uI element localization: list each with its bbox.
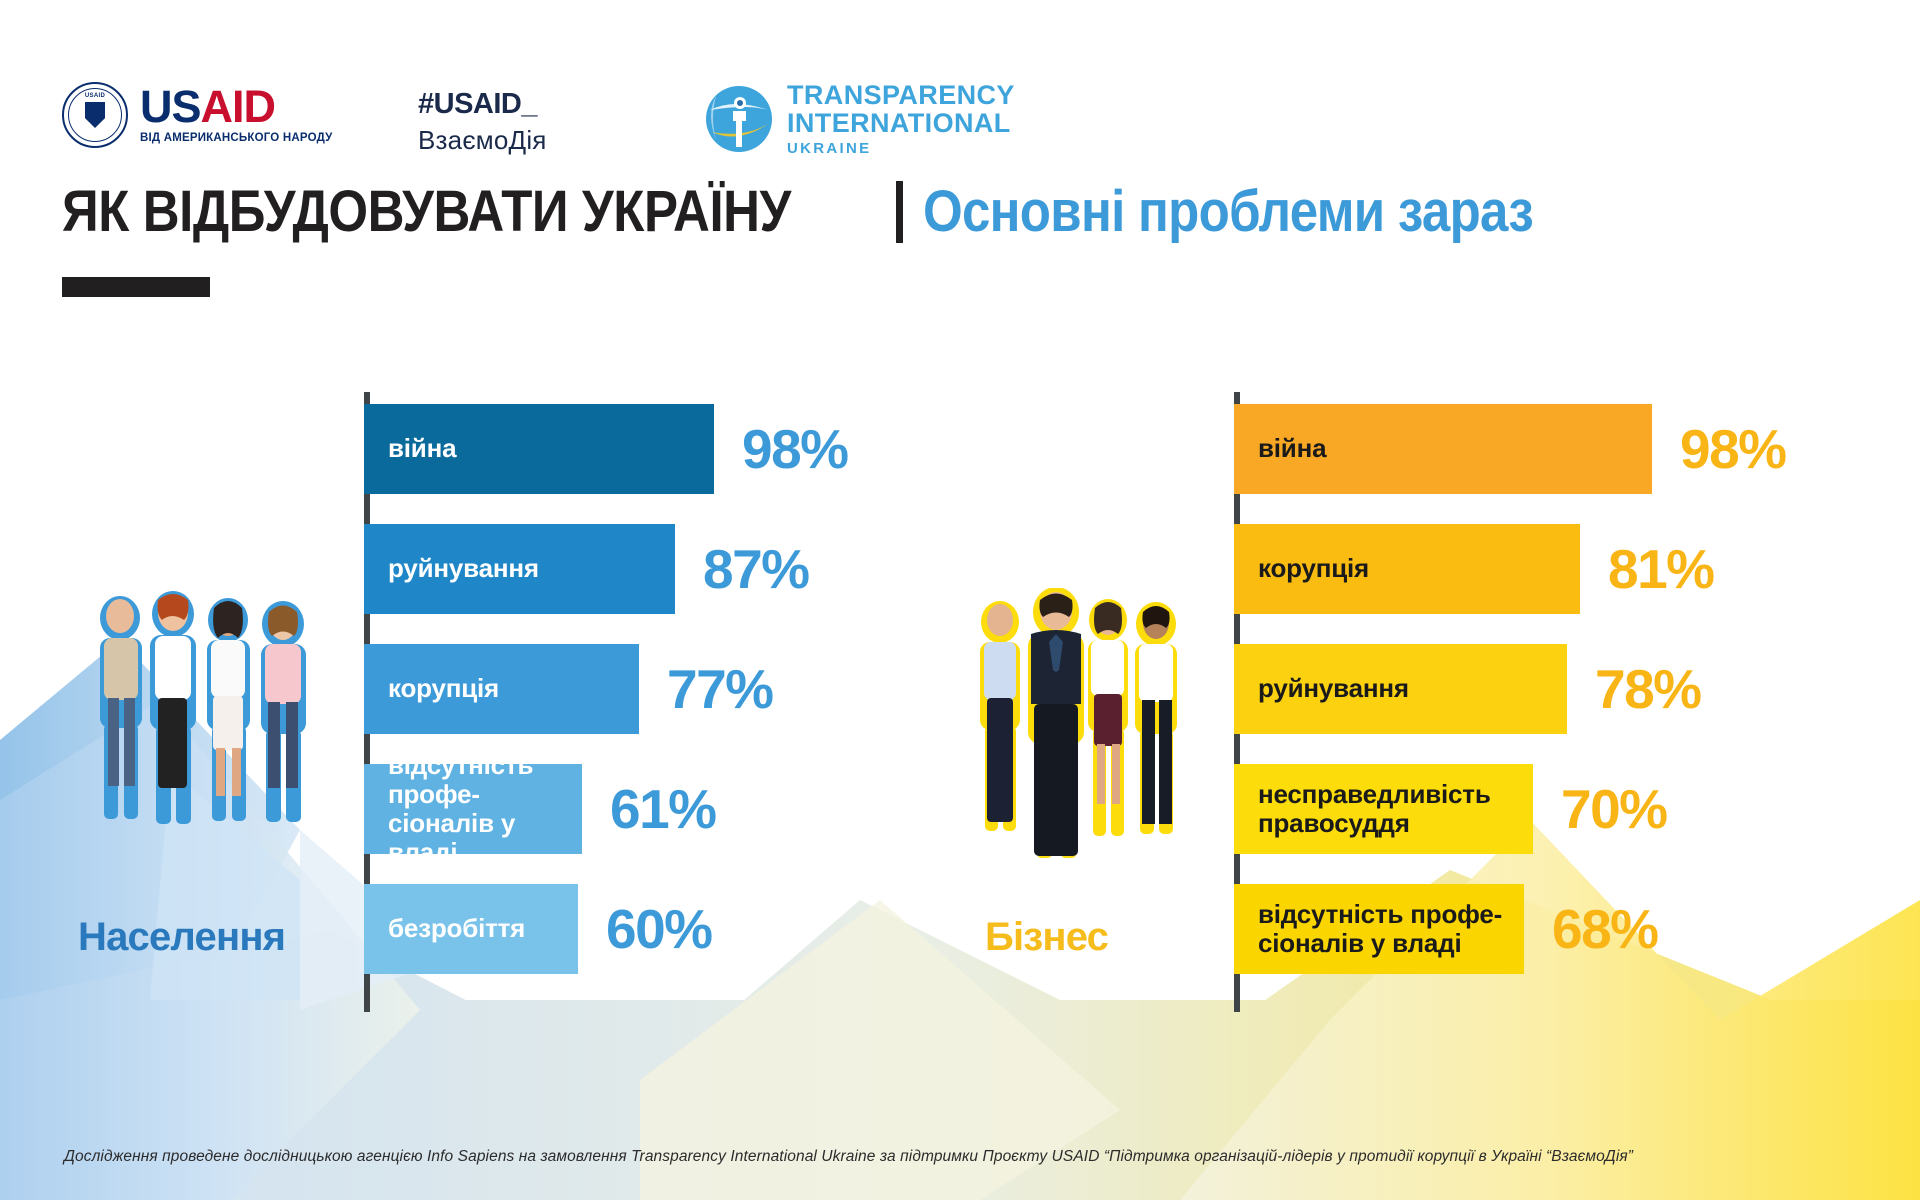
business-bars: війна 98% корупція 81% руйнування 78% не…: [1234, 404, 1786, 974]
bar-value: 81%: [1608, 537, 1714, 601]
population-group-caption: Населення: [78, 915, 285, 960]
bar[interactable]: війна: [1234, 404, 1652, 494]
bar-label: руйнування: [1258, 674, 1409, 703]
population-bars: війна 98% руйнування 87% корупція 77% ві…: [364, 404, 848, 974]
bar-value: 70%: [1561, 777, 1667, 841]
bar-label: несправедливість правосуддя: [1258, 780, 1491, 838]
page-title-black: ЯК ВІДБУДОВУВАТИ УКРАЇНУ: [62, 178, 791, 245]
bar-label: корупція: [1258, 554, 1369, 583]
bar-label: руйнування: [388, 554, 539, 583]
page-title-blue: Основні проблеми зараз: [923, 178, 1533, 245]
bar[interactable]: корупція: [1234, 524, 1580, 614]
business-people-illustration: [968, 588, 1188, 868]
bar-label: корупція: [388, 674, 499, 703]
footer-credit: Дослідження проведене дослідницькою аген…: [64, 1148, 1864, 1166]
bar[interactable]: відсутність профе- сіоналів у владі: [364, 764, 582, 854]
bar-row: війна 98%: [1234, 404, 1786, 494]
bar[interactable]: несправедливість правосуддя: [1234, 764, 1533, 854]
bar-value: 68%: [1552, 897, 1658, 961]
bar-label: відсутність профе- сіоналів у владі: [388, 751, 582, 867]
bar-value: 61%: [610, 777, 716, 841]
bar-value: 98%: [742, 417, 848, 481]
bar[interactable]: руйнування: [364, 524, 675, 614]
usaid-seal-label: USAID: [85, 93, 105, 99]
ti-line-3: UKRAINE: [787, 141, 1015, 156]
usaid-logo: USAID USAID ВІД АМЕРИКАНСЬКОГО НАРОДУ: [62, 82, 332, 148]
bar-row: безробіття 60%: [364, 884, 848, 974]
title-divider-icon: [896, 181, 903, 243]
ti-globe-icon: [704, 84, 774, 154]
usaid-hashtag-logo: #USAID_ ВзаємоДія: [418, 88, 547, 156]
bar-value: 98%: [1680, 417, 1786, 481]
ti-line-1: TRANSPARENCY: [787, 82, 1015, 110]
page-title: ЯК ВІДБУДОВУВАТИ УКРАЇНУ Основні проблем…: [62, 178, 1616, 245]
bar-row: руйнування 78%: [1234, 644, 1786, 734]
bar-label: безробіття: [388, 914, 525, 943]
transparency-international-logo: TRANSPARENCY INTERNATIONAL UKRAINE: [704, 82, 1015, 156]
bar-row: війна 98%: [364, 404, 848, 494]
bar-row: відсутність профе- сіоналів у владі 68%: [1234, 884, 1786, 974]
usaid-tagline: ВІД АМЕРИКАНСЬКОГО НАРОДУ: [140, 132, 332, 144]
ti-line-2: INTERNATIONAL: [787, 110, 1015, 138]
bar-label: війна: [1258, 434, 1326, 463]
infographic-page: USAID USAID ВІД АМЕРИКАНСЬКОГО НАРОДУ #U…: [0, 0, 1920, 1200]
bar-label: війна: [388, 434, 456, 463]
bar-label: відсутність профе- сіоналів у владі: [1258, 900, 1502, 958]
hashtag-line-1: #USAID_: [418, 88, 547, 121]
population-chart: війна 98% руйнування 87% корупція 77% ві…: [364, 404, 848, 1004]
bar-row: несправедливість правосуддя 70%: [1234, 764, 1786, 854]
usaid-word-us: US: [140, 81, 201, 132]
usaid-seal-icon: USAID: [62, 82, 128, 148]
bar-value: 78%: [1595, 657, 1701, 721]
bar[interactable]: корупція: [364, 644, 639, 734]
usaid-word-aid: AID: [201, 81, 276, 132]
bar-value: 77%: [667, 657, 773, 721]
bar[interactable]: руйнування: [1234, 644, 1567, 734]
bar-row: корупція 81%: [1234, 524, 1786, 614]
bar-row: корупція 77%: [364, 644, 848, 734]
hashtag-line-2: ВзаємоДія: [418, 125, 547, 156]
population-people-illustration: [80, 588, 330, 828]
bar-row: відсутність профе- сіоналів у владі 61%: [364, 764, 848, 854]
bar[interactable]: безробіття: [364, 884, 578, 974]
logo-bar: USAID USAID ВІД АМЕРИКАНСЬКОГО НАРОДУ #U…: [0, 38, 1920, 134]
title-underline-bar: [62, 277, 210, 297]
bar-value: 60%: [606, 897, 712, 961]
bar-row: руйнування 87%: [364, 524, 848, 614]
business-group-caption: Бізнес: [985, 915, 1108, 960]
bar[interactable]: війна: [364, 404, 714, 494]
business-chart: війна 98% корупція 81% руйнування 78% не…: [1234, 404, 1786, 1004]
bar[interactable]: відсутність профе- сіоналів у владі: [1234, 884, 1524, 974]
bar-value: 87%: [703, 537, 809, 601]
